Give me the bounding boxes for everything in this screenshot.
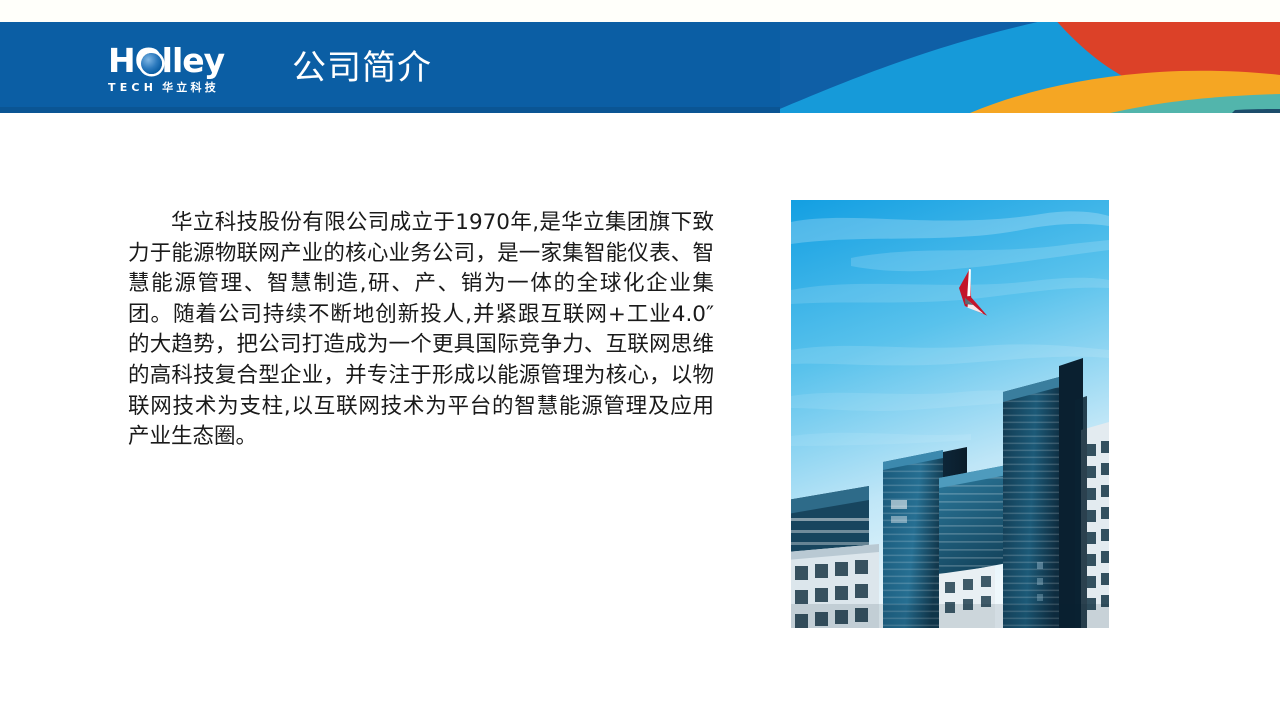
header-swoosh-decoration [780, 22, 1280, 113]
logo-subtitle-cn: 华立科技 [162, 79, 219, 95]
page-title: 公司简介 [292, 46, 432, 90]
logo-subtitle-group: TECH 华立科技 [108, 79, 264, 95]
logo-subtitle-en: TECH [108, 81, 157, 94]
building-photo [791, 200, 1109, 628]
slide-canvas: HOlley TECH 华立科技 公司简介 华立科技股份有限公司成立于1970年… [0, 0, 1280, 720]
logo-wordmark-text: HOlley [108, 44, 224, 78]
body-paragraph: 华立科技股份有限公司成立于1970年,是华立集团旗下致力于能源物联网产业的核心业… [128, 208, 714, 453]
top-margin-strip [0, 0, 1280, 22]
logo-wordmark-group: HOlley [108, 48, 264, 78]
logo-globe-icon [141, 53, 162, 74]
company-logo: HOlley TECH 华立科技 [108, 48, 264, 98]
